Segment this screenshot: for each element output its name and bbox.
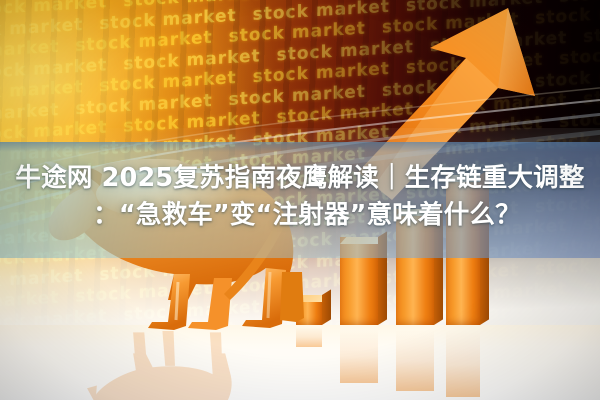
thumbnail-image: stock marketstock marketstock marketstoc… bbox=[0, 0, 600, 400]
vignette-overlay bbox=[0, 0, 600, 400]
